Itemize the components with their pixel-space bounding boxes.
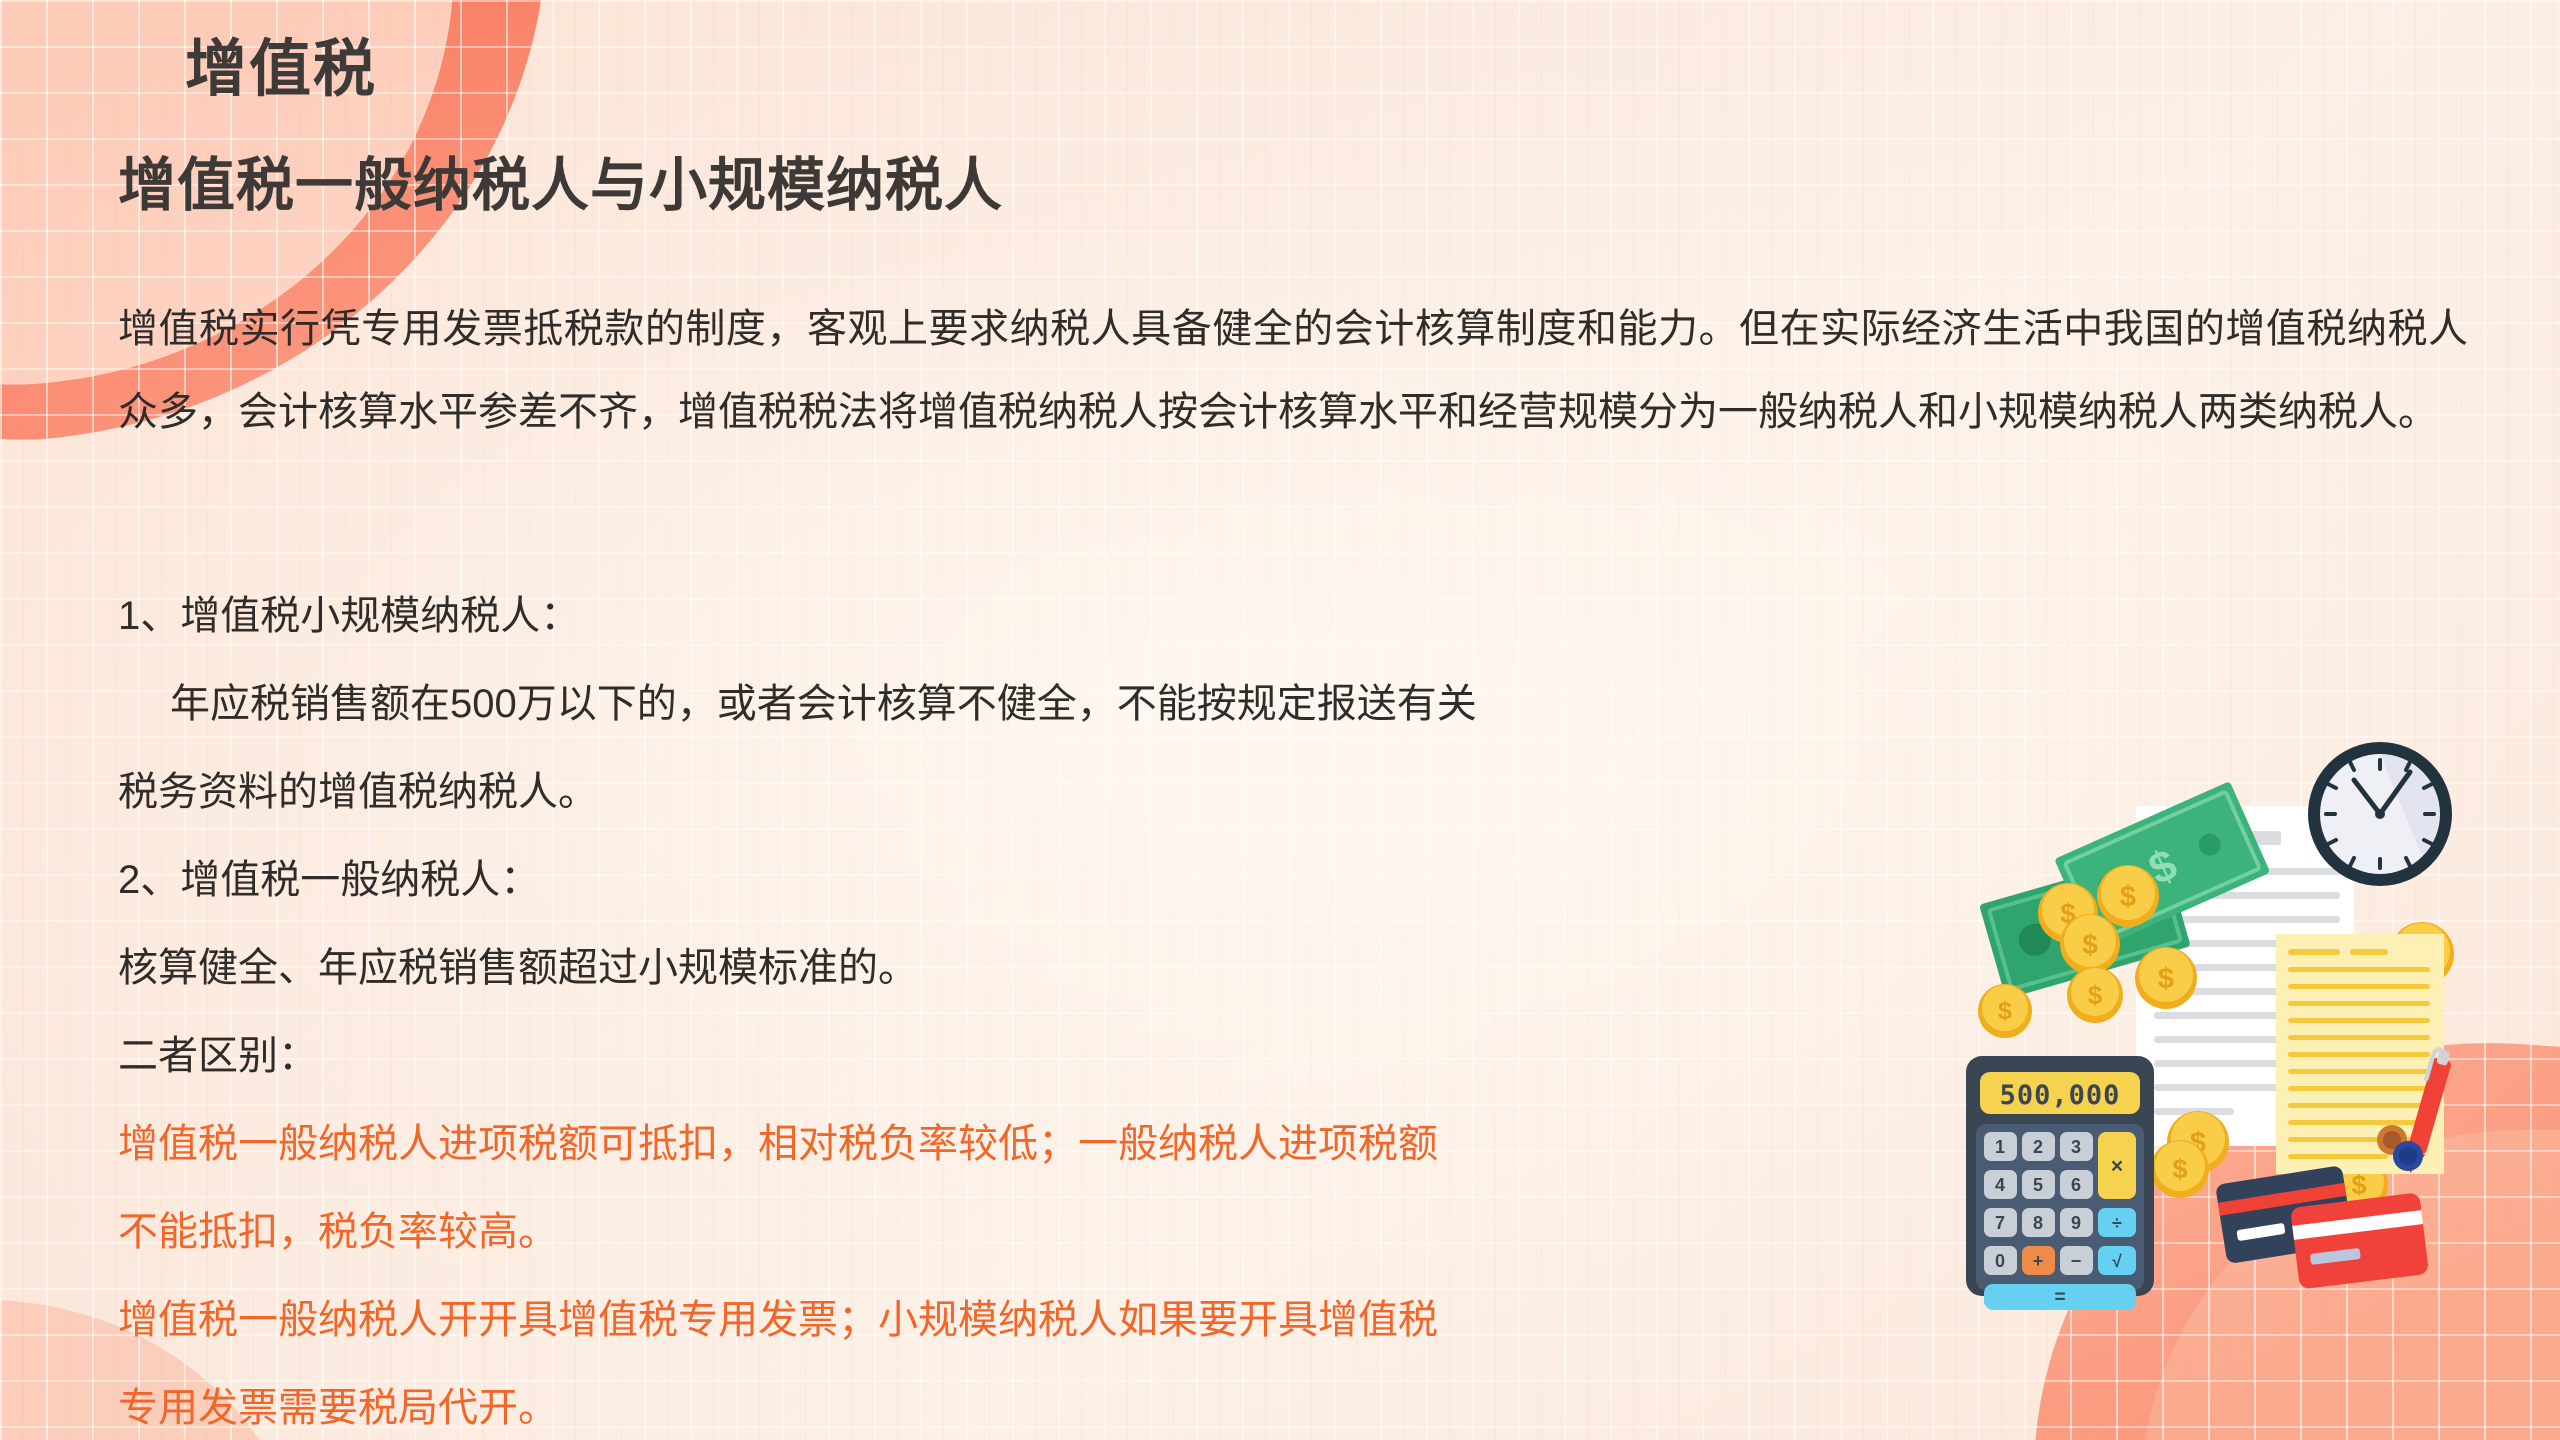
difference-heading: 二者区别： [118, 1012, 1818, 1100]
svg-text:3: 3 [2071, 1137, 2081, 1157]
svg-text:=: = [2054, 1287, 2065, 1308]
svg-text:6: 6 [2071, 1175, 2081, 1195]
slide-canvas: 增值税 增值税一般纳税人与小规模纳税人 增值税实行凭专用发票抵税款的制度，客观上… [0, 0, 2560, 1440]
svg-text:8: 8 [2033, 1213, 2043, 1233]
list-item-heading-1: 1、增值税小规模纳税人： [118, 572, 1818, 660]
list-item-body-2a: 核算健全、年应税销售额超过小规模标准的。 [118, 924, 1818, 1012]
svg-text:4: 4 [1995, 1175, 2005, 1195]
svg-text:$: $ [2158, 963, 2174, 995]
finance-illustration: $ $ $ [1958, 706, 2558, 1316]
svg-text:$: $ [2351, 1170, 2366, 1200]
difference-line-2a: 增值税一般纳税人开开具增值税专用发票；小规模纳税人如果要开具增值税 [118, 1276, 1818, 1364]
svg-text:$: $ [2088, 980, 2103, 1010]
svg-text:2: 2 [2033, 1137, 2043, 1157]
svg-text:÷: ÷ [2112, 1213, 2122, 1233]
body-lines-block: 1、增值税小规模纳税人： 年应税销售额在500万以下的，或者会计核算不健全，不能… [118, 572, 1818, 1440]
list-item-heading-2: 2、增值税一般纳税人： [118, 836, 1818, 924]
svg-text:−: − [2071, 1251, 2082, 1271]
page-title: 增值税 [185, 18, 377, 108]
svg-text:1: 1 [1995, 1137, 2005, 1157]
calculator-icon: 500,000 1 2 3 × 4 5 [1966, 1056, 2154, 1310]
list-item-body-1a: 年应税销售额在500万以下的，或者会计核算不健全，不能按规定报送有关 [118, 660, 1818, 748]
svg-text:500,000: 500,000 [2000, 1080, 2121, 1111]
clock-icon [2308, 742, 2452, 886]
svg-text:$: $ [2172, 1154, 2187, 1184]
list-item-body-1b: 税务资料的增值税纳税人。 [118, 748, 1818, 836]
svg-text:√: √ [2112, 1252, 2122, 1271]
difference-line-2b: 专用发票需要税局代开。 [118, 1364, 1818, 1440]
svg-text:$: $ [2082, 929, 2098, 960]
svg-text:9: 9 [2071, 1213, 2081, 1233]
svg-text:+: + [2033, 1251, 2044, 1271]
svg-text:5: 5 [2033, 1175, 2043, 1195]
slide-subtitle: 增值税一般纳税人与小规模纳税人 [118, 138, 1003, 222]
svg-text:×: × [2111, 1155, 2123, 1178]
slide-content: 增值税 增值税一般纳税人与小规模纳税人 增值税实行凭专用发票抵税款的制度，客观上… [0, 0, 2560, 1440]
credit-card-icon-red [2290, 1192, 2429, 1289]
difference-line-1a: 增值税一般纳税人进项税额可抵扣，相对税负率较低；一般纳税人进项税额 [118, 1100, 1818, 1188]
svg-text:7: 7 [1995, 1213, 2005, 1233]
difference-line-1b: 不能抵扣，税负率较高。 [118, 1188, 1818, 1276]
svg-text:$: $ [1998, 997, 2012, 1025]
svg-text:$: $ [2120, 881, 2136, 913]
svg-text:0: 0 [1995, 1251, 2005, 1271]
intro-paragraph: 增值税实行凭专用发票抵税款的制度，客观上要求纳税人具备健全的会计核算制度和能力。… [118, 288, 2468, 454]
